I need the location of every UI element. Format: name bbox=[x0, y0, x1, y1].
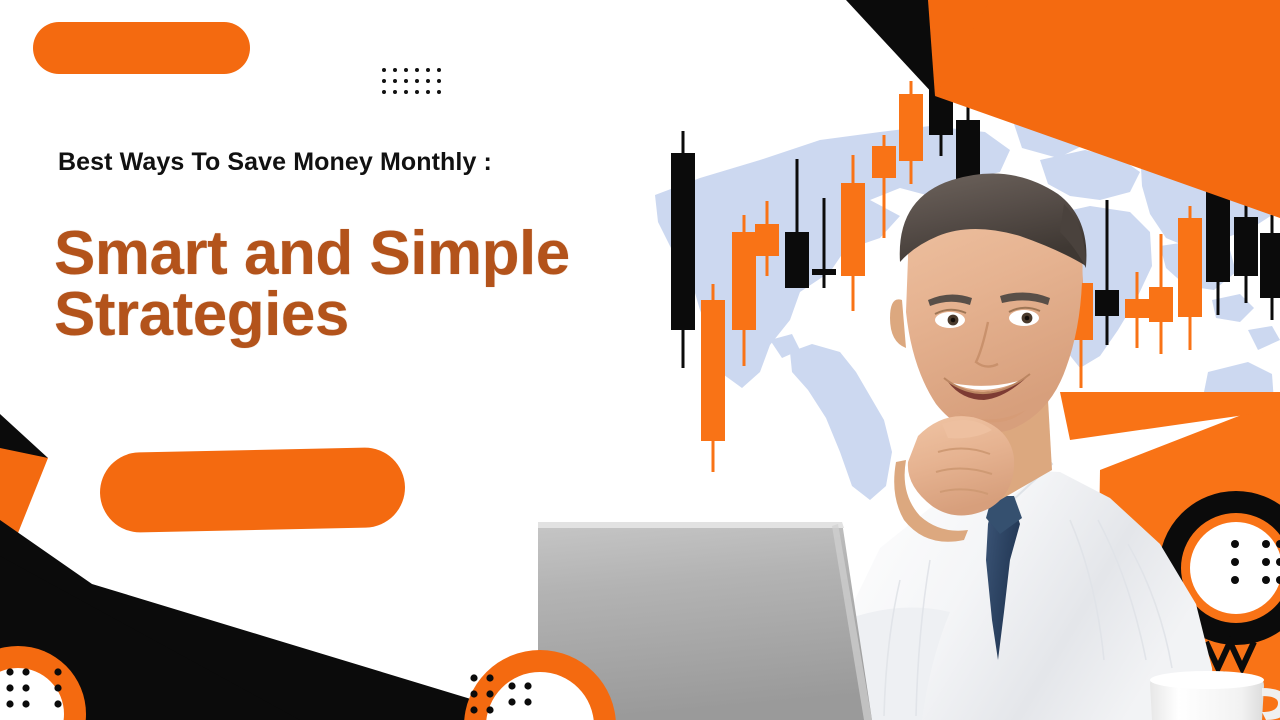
poster-canvas: Best Ways To Save Money Monthly : Smart … bbox=[0, 0, 1280, 720]
decor-pill-top bbox=[33, 22, 250, 74]
decor-pill-bottom bbox=[99, 447, 406, 533]
headline-line-1: Smart and Simple bbox=[54, 224, 570, 285]
headline-line-2: Strategies bbox=[54, 285, 570, 346]
poster-headline: Smart and Simple Strategies bbox=[54, 224, 570, 346]
poster-eyebrow: Best Ways To Save Money Monthly : bbox=[58, 148, 492, 177]
corner-orange-band bbox=[935, 0, 1280, 218]
decorative-shapes bbox=[0, 0, 1280, 720]
dot-grid-top-icon bbox=[382, 68, 448, 101]
